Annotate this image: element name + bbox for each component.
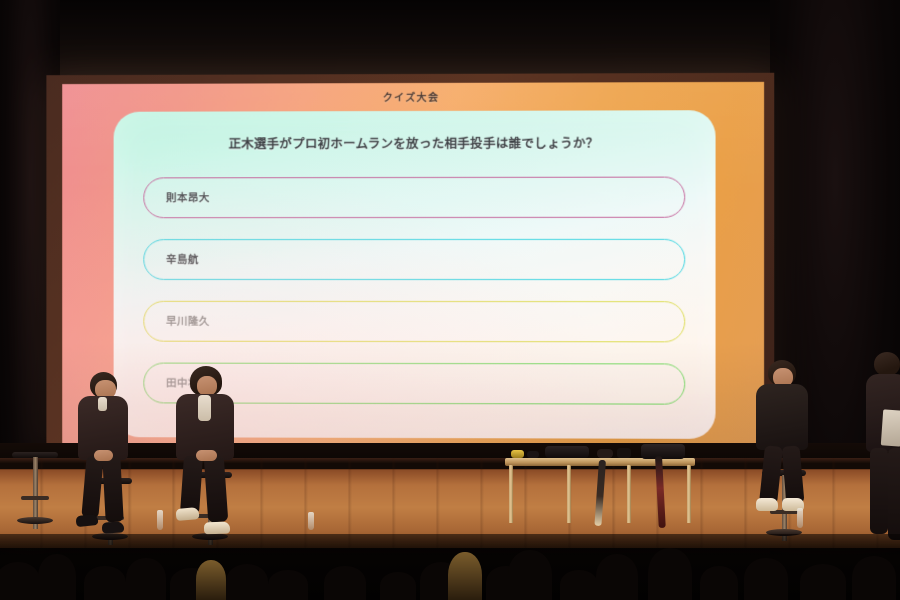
- stool-base: [17, 517, 53, 524]
- water-bottle-3: [797, 508, 803, 528]
- host-standing: [862, 352, 900, 548]
- table-leg-3: [627, 465, 631, 523]
- audience-head: [852, 556, 896, 600]
- equipment-bag-2: [641, 444, 685, 459]
- audience-head: [38, 554, 76, 600]
- panelist-center-shirt: [198, 395, 211, 421]
- audience-head: [324, 566, 366, 600]
- baseball-bat-2: [655, 456, 666, 528]
- quiz-option-2[interactable]: 辛島航: [143, 239, 685, 280]
- panelist-center-shoe-2: [204, 522, 230, 535]
- water-bottle-2: [308, 512, 314, 530]
- table-leg-4: [687, 465, 691, 523]
- panelist-right-leg-2: [782, 445, 805, 504]
- panelist-center-leg-2: [204, 455, 229, 522]
- audience-silhouettes: [0, 534, 900, 600]
- slide-title-bar: クイズ大会: [62, 82, 764, 110]
- quiz-option-1-label: 則本昂大: [166, 190, 210, 205]
- prop-table: [505, 448, 695, 528]
- panelist-right-shoe-1: [756, 498, 778, 511]
- audience-head: [596, 554, 638, 600]
- table-leg-1: [509, 465, 513, 523]
- panelist-left-hands: [94, 450, 113, 461]
- audience-head: [700, 566, 738, 600]
- quiz-option-3[interactable]: 早川隆久: [143, 301, 685, 343]
- slide-title: クイズ大会: [383, 88, 440, 103]
- baseball-bat-1: [594, 460, 606, 526]
- auditorium-ceiling: [0, 0, 900, 80]
- panelist-center-hands: [196, 450, 217, 461]
- small-black-item: [527, 451, 539, 458]
- quiz-slide: クイズ大会 正木選手がプロ初ホームランを放った相手投手は誰でしょうか？ 則本昂大…: [62, 82, 764, 453]
- audience-head: [380, 572, 416, 600]
- host-leg-1: [870, 448, 888, 534]
- audience-head: [126, 558, 166, 600]
- audience-head-blonde: [196, 560, 226, 600]
- host-script-paper: [881, 409, 900, 446]
- quiz-option-1[interactable]: 則本昂大: [143, 177, 685, 219]
- glove-item: [597, 449, 613, 458]
- stage-photograph: クイズ大会 正木選手がプロ初ホームランを放った相手投手は誰でしょうか？ 則本昂大…: [0, 0, 900, 600]
- audience-head: [560, 570, 598, 600]
- camera-item: [617, 448, 631, 458]
- panelist-right: [748, 360, 820, 534]
- host-hair: [874, 352, 900, 376]
- panelist-right-leg-1: [759, 445, 783, 505]
- yellow-tape-item: [511, 450, 524, 458]
- audience-head: [800, 564, 846, 600]
- equipment-bag-1: [545, 446, 589, 458]
- quiz-option-3-label: 早川隆久: [166, 314, 210, 329]
- empty-stool: [12, 452, 58, 524]
- panelist-left-leg-1: [81, 455, 103, 518]
- audience-head: [84, 566, 126, 600]
- panelist-left-shoe-2: [102, 521, 125, 533]
- water-bottle-1: [157, 510, 163, 530]
- quiz-question: 正木選手がプロ初ホームランを放った相手投手は誰でしょうか？: [114, 132, 716, 152]
- quiz-option-2-label: 辛島航: [166, 252, 199, 267]
- panelist-left-collar: [98, 397, 107, 411]
- audience-head: [0, 562, 40, 600]
- table-leg-2: [567, 465, 571, 523]
- audience-head: [226, 564, 268, 600]
- panelist-left-leg-2: [102, 456, 123, 523]
- stool-footring: [21, 496, 49, 500]
- host-leg-2: [888, 448, 900, 540]
- panelist-center-face: [197, 376, 217, 396]
- audience-head: [648, 548, 692, 600]
- audience-head-blonde-2: [448, 552, 482, 600]
- audience-head: [268, 570, 308, 600]
- panelist-left-shoe-1: [75, 514, 98, 527]
- audience-head: [744, 558, 788, 600]
- panelist-center-leg-1: [180, 455, 203, 514]
- panelist-left: [72, 372, 142, 542]
- audience-head: [508, 550, 552, 600]
- projection-screen-frame: クイズ大会 正木選手がプロ初ホームランを放った相手投手は誰でしょうか？ 則本昂大…: [46, 73, 774, 459]
- panelist-right-torso: [756, 384, 808, 450]
- panelist-center: [170, 366, 246, 542]
- panelist-center-shoe-1: [176, 507, 200, 521]
